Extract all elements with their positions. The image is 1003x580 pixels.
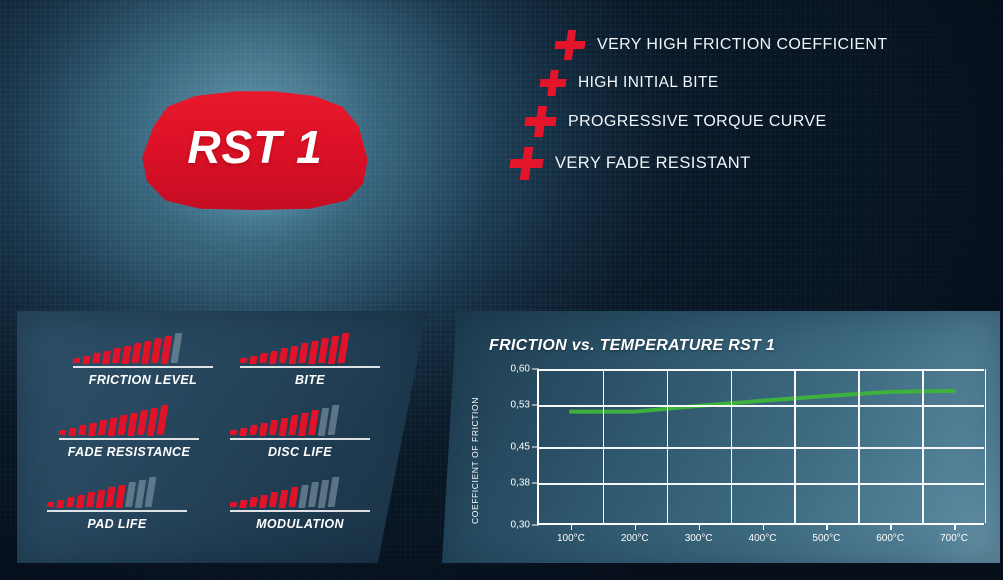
- rating-bar-segment: [145, 477, 157, 507]
- rating-bars: [240, 333, 411, 363]
- y-tick-mark: [532, 369, 539, 370]
- x-tick-label: 400°C: [749, 533, 777, 544]
- rating-bar-segment: [298, 343, 308, 363]
- plus-icon: [523, 106, 558, 137]
- rating-bar-segment: [259, 423, 268, 436]
- plus-icon: [508, 147, 546, 180]
- y-tick-label: 0,45: [511, 442, 530, 453]
- x-tick-label: 600°C: [876, 533, 904, 544]
- rating-bar-segment: [98, 420, 107, 435]
- rating-label: FADE RESISTANCE: [59, 445, 199, 459]
- gridline-vertical: [985, 369, 987, 523]
- rating-modulation: MODULATION: [230, 477, 411, 549]
- x-tick-mark: [826, 523, 828, 530]
- rating-bar-segment: [239, 428, 247, 436]
- rating-rule: [47, 510, 187, 512]
- rating-bar-segment: [112, 348, 121, 363]
- logo-text: RST 1: [140, 90, 370, 210]
- gridline-vertical: [667, 369, 669, 523]
- ratings-panel: FRICTION LEVEL BITE FADE RESISTANCE: [17, 311, 427, 563]
- rating-bar-segment: [308, 482, 319, 507]
- rating-bar-segment: [259, 353, 268, 363]
- rating-bar-segment: [298, 413, 309, 436]
- rating-bar-segment: [269, 351, 278, 364]
- feature-item: VERY HIGH FRICTION COEFFICIENT: [505, 30, 975, 60]
- rating-bar-segment: [92, 353, 101, 363]
- rating-bar-segment: [96, 490, 106, 508]
- rating-bar-segment: [117, 415, 127, 435]
- rating-bar-segment: [68, 428, 76, 436]
- feature-label: VERY FADE RESISTANT: [555, 154, 751, 173]
- rating-bar-segment: [125, 482, 136, 507]
- rating-bar-segment: [137, 410, 148, 435]
- rating-bar-segment: [56, 500, 64, 508]
- rating-bars: [47, 477, 220, 507]
- rating-bar-segment: [230, 502, 238, 507]
- plus-icon: [538, 70, 568, 96]
- rating-bar-segment: [279, 418, 289, 436]
- rating-bar-segment: [122, 346, 132, 364]
- rating-bar-segment: [115, 485, 126, 508]
- y-tick-mark: [532, 525, 539, 526]
- rating-bar-segment: [105, 487, 115, 507]
- rating-label: BITE: [240, 373, 380, 387]
- rating-bar-segment: [82, 356, 90, 364]
- rating-bar-segment: [249, 497, 258, 507]
- rating-bar-segment: [102, 351, 111, 364]
- infographic-root: RST 1 VERY HIGH FRICTION COEFFICIENT HIG…: [0, 0, 1003, 580]
- x-tick-mark: [763, 523, 765, 530]
- gridline-horizontal: [539, 369, 984, 371]
- rating-bar-segment: [338, 333, 350, 363]
- rating-label: PAD LIFE: [47, 517, 187, 531]
- gridline-vertical: [922, 369, 924, 523]
- rating-bar-segment: [47, 502, 55, 507]
- rating-bar-segment: [288, 415, 298, 435]
- rating-bar-segment: [230, 430, 238, 435]
- plot-area: 0,600,530,450,380,30100°C200°C300°C400°C…: [537, 369, 984, 525]
- rating-bar-segment: [151, 338, 162, 363]
- gridline-vertical: [794, 369, 796, 523]
- x-tick-label: 300°C: [685, 533, 713, 544]
- rating-bar-segment: [249, 425, 258, 435]
- rating-bar-segment: [239, 500, 247, 508]
- rating-label: DISC LIFE: [230, 445, 370, 459]
- rating-bar-segment: [269, 420, 278, 435]
- rating-bar-segment: [298, 485, 309, 508]
- rating-pad-life: PAD LIFE: [39, 477, 220, 549]
- rating-bar-segment: [328, 405, 340, 435]
- rating-fade-resistance: FADE RESISTANCE: [39, 405, 220, 477]
- rating-rule: [240, 366, 380, 368]
- rating-bar-segment: [88, 423, 97, 436]
- rating-bite: BITE: [230, 333, 411, 405]
- rating-bar-segment: [131, 343, 141, 363]
- rating-bar-segment: [157, 405, 169, 435]
- x-tick-label: 500°C: [812, 533, 840, 544]
- feature-item: PROGRESSIVE TORQUE CURVE: [505, 106, 975, 137]
- y-tick-label: 0,38: [511, 478, 530, 489]
- rating-bars: [230, 477, 411, 507]
- rating-bar-segment: [76, 495, 85, 508]
- x-tick-mark: [890, 523, 892, 530]
- x-tick-label: 200°C: [621, 533, 649, 544]
- feature-label: VERY HIGH FRICTION COEFFICIENT: [597, 36, 888, 54]
- x-tick-label: 700°C: [940, 533, 968, 544]
- chart-panel: FRICTION vs. TEMPERATURE RST 1 COEFFICIE…: [442, 311, 1000, 563]
- rating-bars: [73, 333, 220, 363]
- feature-label: PROGRESSIVE TORQUE CURVE: [568, 113, 827, 131]
- y-tick-mark: [532, 447, 539, 448]
- rating-bar-segment: [78, 425, 87, 435]
- rating-bar-segment: [240, 358, 248, 363]
- rating-disc-life: DISC LIFE: [230, 405, 411, 477]
- rating-rule: [59, 438, 199, 440]
- feature-item: HIGH INITIAL BITE: [505, 70, 975, 96]
- feature-item: VERY FADE RESISTANT: [505, 147, 975, 180]
- rating-bar-segment: [59, 430, 67, 435]
- gridline-vertical: [731, 369, 733, 523]
- rating-bars: [59, 405, 220, 435]
- rating-bar-segment: [288, 487, 298, 507]
- x-tick-label: 100°C: [557, 533, 585, 544]
- rating-bar-segment: [249, 356, 257, 364]
- rating-bar-segment: [318, 338, 329, 363]
- rating-bars: [230, 405, 411, 435]
- rating-label: FRICTION LEVEL: [73, 373, 213, 387]
- rating-bar-segment: [73, 358, 81, 363]
- y-axis-label: COEFFICIENT OF FRICTION: [470, 369, 480, 524]
- rating-friction-level: FRICTION LEVEL: [39, 333, 220, 405]
- rating-bar-segment: [259, 495, 268, 508]
- y-tick-label: 0,30: [511, 520, 530, 531]
- x-tick-mark: [699, 523, 701, 530]
- y-tick-mark: [532, 405, 539, 406]
- rating-bar-segment: [279, 348, 288, 363]
- rating-bar-segment: [308, 341, 319, 364]
- rating-rule: [230, 510, 370, 512]
- gridline-vertical: [603, 369, 605, 523]
- lower-panels: FRICTION LEVEL BITE FADE RESISTANCE: [17, 311, 983, 563]
- rating-bar-segment: [289, 346, 299, 364]
- rating-label: MODULATION: [230, 517, 370, 531]
- rating-bar-segment: [127, 413, 138, 436]
- ratings-grid: FRICTION LEVEL BITE FADE RESISTANCE: [39, 333, 411, 549]
- rating-bar-segment: [141, 341, 152, 364]
- x-tick-mark: [954, 523, 956, 530]
- plot-wrapper: 0,600,530,450,380,30100°C200°C300°C400°C…: [484, 369, 984, 549]
- gridline-vertical: [858, 369, 860, 523]
- x-tick-mark: [635, 523, 637, 530]
- gridline-horizontal: [539, 483, 984, 485]
- rating-bar-segment: [269, 492, 278, 507]
- y-tick-mark: [532, 483, 539, 484]
- rating-bar-segment: [66, 497, 75, 507]
- rating-bar-segment: [279, 490, 289, 508]
- rating-bar-segment: [171, 333, 183, 363]
- x-tick-mark: [571, 523, 573, 530]
- rating-bar-segment: [328, 477, 340, 507]
- feature-label: HIGH INITIAL BITE: [578, 74, 719, 92]
- feature-list: VERY HIGH FRICTION COEFFICIENT HIGH INIT…: [505, 30, 975, 190]
- gridline-horizontal: [539, 447, 984, 449]
- y-tick-label: 0,60: [511, 364, 530, 375]
- y-tick-label: 0,53: [511, 400, 530, 411]
- rating-bar-segment: [308, 410, 319, 435]
- rating-rule: [230, 438, 370, 440]
- rating-rule: [73, 366, 213, 368]
- rating-bar-segment: [108, 418, 118, 436]
- product-logo: RST 1: [105, 45, 410, 250]
- chart-title: FRICTION vs. TEMPERATURE RST 1: [489, 337, 775, 355]
- gridline-horizontal: [539, 405, 984, 407]
- plus-icon: [553, 30, 587, 60]
- rating-bar-segment: [86, 492, 95, 507]
